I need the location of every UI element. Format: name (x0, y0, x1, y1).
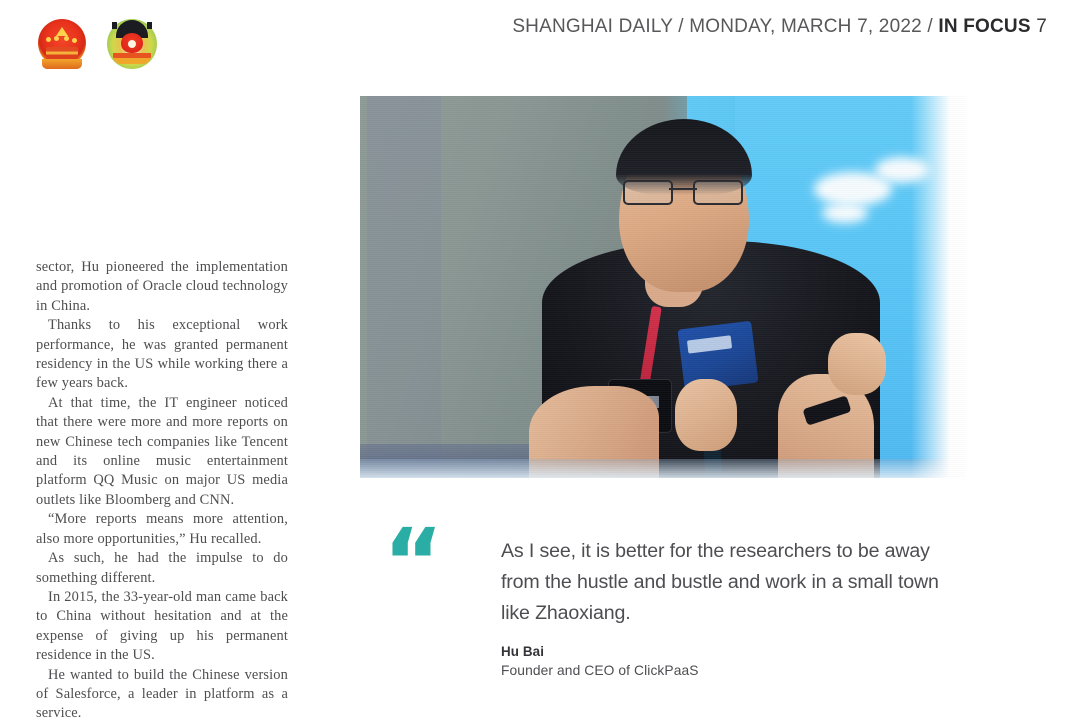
photo-stage-floor (360, 459, 965, 478)
masthead-page-number: 7 (1036, 16, 1047, 37)
article-paragraph: As such, he had the impulse to do someth… (36, 549, 288, 588)
photo-cloud (822, 203, 868, 223)
emblem-tiananmen-gate (46, 47, 78, 59)
article-paragraph: “More reports means more attention, also… (36, 510, 288, 549)
article-paragraph: At that time, the IT engineer noticed th… (36, 394, 288, 510)
masthead-section: IN FOCUS (938, 16, 1030, 37)
cppcc-emblem-icon (104, 16, 160, 78)
emblem-ribbon (113, 53, 151, 64)
pull-quote: “ As I see, it is better for the researc… (383, 536, 943, 680)
article-paragraph: He wanted to build the Chinese version o… (36, 666, 288, 717)
masthead-publication: SHANGHAI DAILY (512, 16, 672, 37)
photo-subject-hand-holding-mic (675, 379, 737, 451)
masthead: SHANGHAI DAILY / MONDAY, MARCH 7, 2022 /… (512, 16, 1047, 38)
pull-quote-attribution: Hu Bai Founder and CEO of ClickPaaS (501, 643, 943, 680)
pull-quote-text: As I see, it is better for the researche… (501, 536, 943, 629)
photo-subject-glasses (621, 180, 745, 202)
national-emblem-of-china-icon (34, 16, 90, 78)
emblem-small-stars (45, 36, 79, 45)
article-paragraph: Thanks to his exceptional work performan… (36, 316, 288, 394)
pull-quote-speaker-role: Founder and CEO of ClickPaaS (501, 661, 943, 680)
photo-subject-right-hand (828, 333, 886, 395)
article-column: sector, Hu pioneered the implementation … (36, 258, 288, 717)
emblem-base (42, 59, 82, 69)
article-paragraph: In 2015, the 33-year-old man came back t… (36, 588, 288, 666)
article-photo (360, 96, 965, 478)
masthead-separator-2: / (927, 16, 932, 37)
photo-edge-fade (911, 96, 965, 478)
emblem-red-core (121, 33, 143, 53)
emblem-big-star (56, 27, 68, 36)
quotation-mark-icon: “ (383, 532, 440, 594)
emblem-group (34, 16, 160, 78)
article-paragraph: sector, Hu pioneered the implementation … (36, 258, 288, 316)
masthead-date: MONDAY, MARCH 7, 2022 (689, 16, 922, 37)
masthead-separator-1: / (678, 16, 683, 37)
pull-quote-speaker-name: Hu Bai (501, 643, 943, 661)
pull-quote-body: As I see, it is better for the researche… (501, 536, 943, 680)
